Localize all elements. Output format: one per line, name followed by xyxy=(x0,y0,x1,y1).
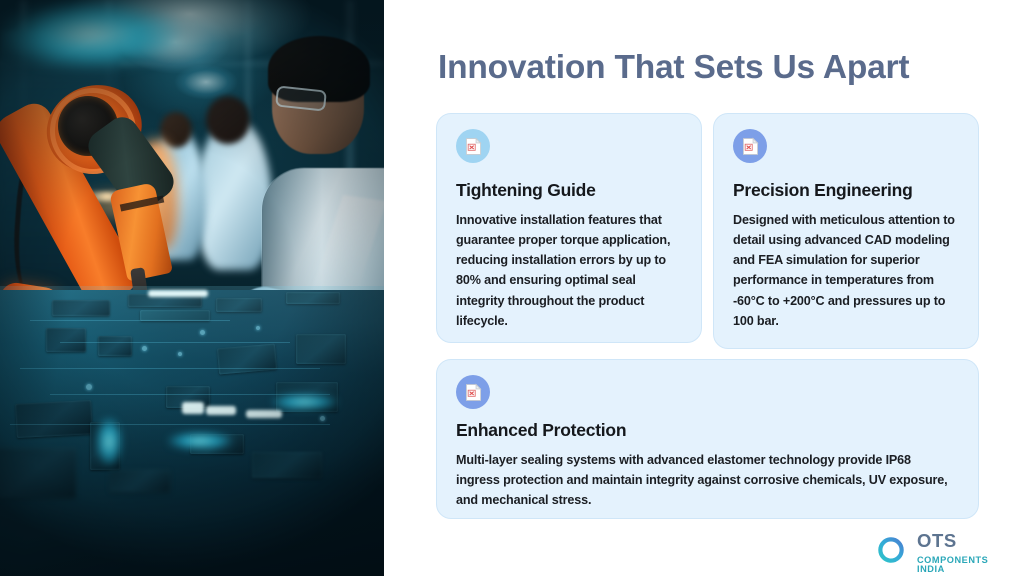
photo-glow xyxy=(246,410,282,418)
slide-root: Innovation That Sets Us Apart Tightening… xyxy=(0,0,1024,576)
company-logo: OTS COMPONENTS INDIA xyxy=(872,529,1012,571)
photo-glow xyxy=(182,402,204,414)
page-title: Innovation That Sets Us Apart xyxy=(438,49,909,87)
hero-photo xyxy=(0,0,384,576)
photo-glow xyxy=(206,406,236,415)
logo-wordmark: OTS COMPONENTS INDIA xyxy=(917,532,1012,574)
broken-image-icon xyxy=(733,129,767,163)
broken-image-icon xyxy=(456,129,490,163)
card-title: Enhanced Protection xyxy=(456,420,626,441)
card-body: Designed with meticulous attention to de… xyxy=(733,210,963,331)
content-panel: Innovation That Sets Us Apart Tightening… xyxy=(384,0,1024,576)
feature-card-precision-engineering[interactable]: Precision Engineering Designed with meti… xyxy=(713,113,979,349)
photo-glow xyxy=(148,290,208,297)
photo-glow xyxy=(168,432,232,450)
photo-board-highlight xyxy=(0,286,384,576)
logo-secondary-text: COMPONENTS INDIA xyxy=(917,556,1012,574)
logo-primary-text: OTS xyxy=(917,532,1012,551)
photo-glow xyxy=(96,418,122,466)
card-title: Tightening Guide xyxy=(456,180,596,201)
card-body: Multi-layer sealing systems with advance… xyxy=(456,450,956,510)
card-title: Precision Engineering xyxy=(733,180,913,201)
photo-background-worker-head xyxy=(206,96,250,144)
photo-glow xyxy=(272,394,338,410)
feature-card-enhanced-protection[interactable]: Enhanced Protection Multi-layer sealing … xyxy=(436,359,979,519)
broken-image-icon xyxy=(456,375,490,409)
radial-sunburst-ring-icon xyxy=(872,531,910,569)
card-body: Innovative installation features that gu… xyxy=(456,210,682,331)
photo-main-glow xyxy=(0,0,180,68)
feature-card-tightening-guide[interactable]: Tightening Guide Innovative installation… xyxy=(436,113,702,343)
photo-background-worker-head xyxy=(160,112,192,148)
